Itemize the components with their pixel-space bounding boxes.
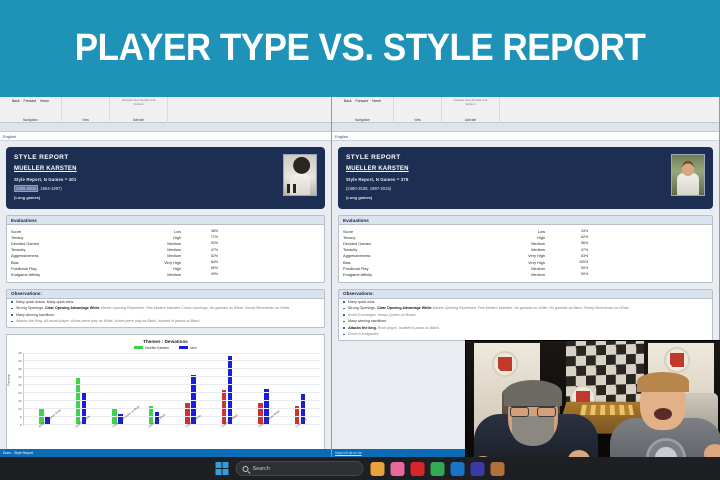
ribbon-group-activate: Activate Now Double Full Version Activat… xyxy=(110,97,168,123)
observation-item: Attacks the King. All-round player. Acti… xyxy=(16,319,322,324)
powerpoint-icon[interactable] xyxy=(471,462,485,476)
evaluation-bar-track xyxy=(591,229,708,233)
evaluation-bar-track xyxy=(221,273,320,277)
language-bar-right[interactable]: English xyxy=(332,132,719,141)
evaluation-percent: 62% xyxy=(551,235,591,239)
evaluation-name: Decided Games xyxy=(343,241,463,246)
evaluation-name: Aggressiveness xyxy=(343,253,463,258)
evaluation-percent: 52% xyxy=(187,241,221,245)
toolbar-separator-left xyxy=(0,123,331,132)
evaluation-percent: 49% xyxy=(187,272,221,276)
evaluation-bar-track xyxy=(221,248,320,252)
y-tick-label: 20 xyxy=(18,391,21,395)
style-report-card-right: STYLE REPORT MUELLER KARSTEN Style Repor… xyxy=(338,147,713,209)
speaker-left-glasses xyxy=(510,406,556,414)
forward-button-right[interactable]: Forward xyxy=(356,98,368,104)
user-app-icon[interactable] xyxy=(491,462,505,476)
evaluation-percent: 50% xyxy=(551,266,591,270)
evaluation-percent: 84% xyxy=(187,260,221,264)
evaluation-word: Medium xyxy=(463,266,551,271)
observation-item: Good in endgames. xyxy=(348,332,710,337)
back-button[interactable]: Back xyxy=(12,98,20,104)
title-banner: PLAYER TYPE VS. STYLE REPORT xyxy=(0,0,720,97)
activate-now-text-right[interactable]: Activate Now Double Full Version xyxy=(449,98,493,106)
evaluation-bar-track xyxy=(591,242,708,246)
ribbon-group-view-right: View xyxy=(394,97,442,123)
observations-list-left: Many quick draws. Many quick wins.Strong… xyxy=(7,299,324,327)
ribbon-group-view: View xyxy=(62,97,110,123)
evaluation-name: Endgame Affinity xyxy=(343,272,463,277)
evaluation-word: Medium xyxy=(113,241,187,246)
evaluation-bar-track xyxy=(591,248,708,252)
evaluations-header: Evaluations xyxy=(7,216,324,225)
report-meta: Style Report, N Games = 401 xyxy=(14,177,317,182)
bar-group xyxy=(149,353,160,424)
evaluation-name: Tenacy xyxy=(343,235,463,240)
observations-panel-left: Observations: Many quick draws. Many qui… xyxy=(6,289,325,328)
evaluation-percent: 65% xyxy=(187,266,221,270)
evaluation-name: Aggressiveness xyxy=(11,253,113,258)
observations-header-right: Observations: xyxy=(339,290,712,299)
ribbon-label-activate: Activate xyxy=(133,117,144,123)
taskbar-app-icons xyxy=(371,462,505,476)
y-tick-label: 10 xyxy=(18,407,21,411)
y-tick-label: 40 xyxy=(18,359,21,363)
gridline xyxy=(24,353,320,354)
evaluations-panel-left: Evaluations ScoreLow38%TenacyHigh71%Deci… xyxy=(6,215,325,283)
report-meta-right: Style Report, N Games = 378 xyxy=(346,177,705,182)
chart-bar xyxy=(258,403,263,424)
windows-taskbar: Search xyxy=(0,457,720,480)
player-name-right: MUELLER KARSTEN xyxy=(346,166,705,172)
ribbon-label-navigation-right: Navigation xyxy=(355,117,370,123)
evaluation-word: Low xyxy=(463,229,551,234)
observation-item: Many winning sacrifices. xyxy=(16,313,322,318)
bar-group xyxy=(258,353,269,424)
evaluations-rows-right: ScoreLow34%TenacyHigh62%Decided GamesMed… xyxy=(339,225,712,282)
evaluation-row: Endgame AffinityMedium49% xyxy=(11,271,320,277)
desktop: Back Forward Home Navigation View Activa… xyxy=(0,97,720,457)
bar-group xyxy=(222,353,233,424)
evaluation-bar-track xyxy=(591,260,708,264)
ribbon-label-activate-right: Activate xyxy=(465,117,476,123)
evaluation-word: High xyxy=(113,235,187,240)
report-kicker: STYLE REPORT xyxy=(14,154,317,161)
language-bar-left[interactable]: English xyxy=(0,132,331,141)
player-name: MUELLER KARSTEN xyxy=(14,166,317,172)
evaluation-name: Bias xyxy=(343,260,463,265)
evaluation-name: Decided Games xyxy=(11,241,113,246)
window-status-bar-left: Done - Style Report xyxy=(0,449,331,457)
y-tick-label: 0 xyxy=(20,423,22,427)
evaluation-percent: 56% xyxy=(551,241,591,245)
evaluation-percent: 52% xyxy=(187,254,221,258)
y-tick-label: 30 xyxy=(18,375,21,379)
search-placeholder: Search xyxy=(253,466,270,472)
gridline xyxy=(24,400,320,401)
chart-y-ticks: 051015202530354045 xyxy=(11,353,23,425)
start-button-icon[interactable] xyxy=(216,462,229,475)
ribbon-group-navigation-right: Back Forward Home Navigation xyxy=(332,97,394,123)
gridline xyxy=(24,384,320,385)
activate-now-text[interactable]: Activate Now Double Full Version xyxy=(117,98,161,106)
observation-item: Many quick wins. xyxy=(348,300,710,305)
bar-group xyxy=(185,353,196,424)
report-note: (Long games) xyxy=(14,195,317,200)
evaluation-bar-track xyxy=(221,254,320,258)
evaluation-name: Tenacity xyxy=(11,247,113,252)
gridline xyxy=(24,376,320,377)
photos-icon[interactable] xyxy=(391,462,405,476)
player-portrait-photo-right xyxy=(671,154,705,196)
status-link-right[interactable]: https://dl.dir.en.lat xyxy=(335,451,362,455)
legend-swatch xyxy=(134,346,143,350)
ribbon-label-view-right: View xyxy=(414,117,421,123)
chart-legend: Mueller KarstenUniv xyxy=(11,346,320,350)
chart-bar xyxy=(185,403,190,424)
report-content-left: STYLE REPORT MUELLER KARSTEN Style Repor… xyxy=(0,141,331,457)
evaluation-percent: 34% xyxy=(551,229,591,233)
evaluation-word: Very High xyxy=(113,260,187,265)
evaluation-bar-track xyxy=(591,254,708,258)
bar-group xyxy=(76,353,87,424)
taskbar-center-group: Search xyxy=(216,457,505,480)
evaluation-word: Low xyxy=(113,229,187,234)
observation-item: Many quick draws. Many quick wins. xyxy=(16,300,322,305)
ribbon-group-activate-right: Activate Now Double Full Version Activat… xyxy=(442,97,500,123)
ribbon-label-view: View xyxy=(82,117,89,123)
y-tick-label: 15 xyxy=(18,399,21,403)
bar-group xyxy=(112,353,123,424)
view-button-right[interactable] xyxy=(417,98,418,104)
speaker-left-beard xyxy=(512,416,554,446)
evaluation-bar-track xyxy=(591,266,708,270)
chessbase-logo-right-icon xyxy=(664,347,690,373)
bar-group xyxy=(39,353,50,424)
status-text-left: Done - Style Report xyxy=(3,451,33,455)
evaluation-word: Medium xyxy=(113,272,187,277)
gridline xyxy=(24,424,320,425)
evaluation-percent: 100% xyxy=(551,260,591,264)
evaluations-rows-left: ScoreLow38%TenacyHigh71%Decided GamesMed… xyxy=(7,225,324,282)
evaluation-name: Tenacity xyxy=(343,247,463,252)
evaluation-percent: 71% xyxy=(187,235,221,239)
legend-item: Mueller Karsten xyxy=(134,346,169,350)
gridline xyxy=(24,392,320,393)
evaluation-percent: 47% xyxy=(551,248,591,252)
evaluation-percent: 47% xyxy=(187,248,221,252)
evaluation-word: Medium xyxy=(463,247,551,252)
report-kicker-right: STYLE REPORT xyxy=(346,154,705,161)
report-rating-range: 2365-2502, 1964-1997) xyxy=(14,186,317,191)
evaluation-bar-track xyxy=(221,260,320,264)
evaluation-name: Tenacy xyxy=(11,235,113,240)
rating-range-years: , 1964-1997) xyxy=(38,186,62,191)
ribbon-right: Back Forward Home Navigation View Activa… xyxy=(332,97,719,123)
evaluations-panel-right: Evaluations ScoreLow34%TenacyHigh62%Deci… xyxy=(338,215,713,283)
y-tick-label: 35 xyxy=(18,367,21,371)
ribbon-group-navigation: Back Forward Home Navigation xyxy=(0,97,62,123)
evaluation-name: Endgame Affinity xyxy=(11,272,113,277)
evaluation-word: Very High xyxy=(463,260,551,265)
ribbon-left: Back Forward Home Navigation View Activa… xyxy=(0,97,331,123)
legend-swatch xyxy=(179,346,188,350)
rating-range-selected[interactable]: 2365-2502 xyxy=(14,185,38,192)
legend-label: Mueller Karsten xyxy=(145,346,169,350)
chart-x-labels: Attack On Queen RookSacrifice WhiteCastl… xyxy=(11,425,320,447)
evaluation-bar-track xyxy=(221,235,320,239)
observation-item: Avoid Exchanges. Keeps Queen on Board. xyxy=(348,313,710,318)
edge-icon[interactable] xyxy=(451,462,465,476)
speaker-right-mouth xyxy=(654,408,672,420)
evaluations-header-right: Evaluations xyxy=(339,216,712,225)
themes-deviations-chart: Themes : Deviations Mueller KarstenUniv … xyxy=(6,334,325,450)
legend-item: Univ xyxy=(179,346,197,350)
y-tick-label: 25 xyxy=(18,383,21,387)
evaluation-word: Very High xyxy=(463,253,551,258)
app-window-left: Back Forward Home Navigation View Activa… xyxy=(0,97,332,457)
page-title: PLAYER TYPE VS. STYLE REPORT xyxy=(75,27,646,70)
gridline xyxy=(24,368,320,369)
observations-list-right: Many quick wins.Strong Openings. Clear O… xyxy=(339,299,712,340)
evaluation-row: Endgame AffinityMedium50% xyxy=(343,271,708,277)
observations-panel-right: Observations: Many quick wins.Strong Ope… xyxy=(338,289,713,341)
evaluation-word: Medium xyxy=(463,241,551,246)
evaluation-bar-track xyxy=(221,229,320,233)
y-tick-label: 5 xyxy=(20,415,22,419)
evaluation-bar-track xyxy=(221,266,320,270)
bar-group xyxy=(295,353,306,424)
evaluation-name: Positional Play xyxy=(343,266,463,271)
evaluation-word: Medium xyxy=(113,247,187,252)
home-button-right[interactable]: Home xyxy=(372,98,381,104)
report-note-right: (Long games) xyxy=(346,195,705,200)
chessbase-logo-left-icon xyxy=(492,351,518,377)
style-report-card-left: STYLE REPORT MUELLER KARSTEN Style Repor… xyxy=(6,147,325,209)
home-button[interactable]: Home xyxy=(40,98,49,104)
chart-title: Themes : Deviations xyxy=(11,339,320,344)
observation-item: Strong Openings. Clear Opening Advantage… xyxy=(16,306,322,311)
file-explorer-icon[interactable] xyxy=(371,462,385,476)
evaluation-bar-track xyxy=(221,242,320,246)
search-icon xyxy=(243,466,249,472)
evaluation-word: High xyxy=(463,235,551,240)
evaluation-percent: 50% xyxy=(551,272,591,276)
evaluation-percent: 38% xyxy=(187,229,221,233)
speaker-right-hair xyxy=(637,372,689,392)
toolbar-separator-right xyxy=(332,123,719,132)
evaluation-name: Positional Play xyxy=(11,266,113,271)
gridline xyxy=(24,408,320,409)
opera-icon[interactable] xyxy=(411,462,425,476)
evaluation-name: Bias xyxy=(11,260,113,265)
evaluation-word: Medium xyxy=(463,272,551,277)
gridline xyxy=(24,360,320,361)
back-button-right[interactable]: Back xyxy=(344,98,352,104)
observation-item: Strong Openings. Clear Opening Advantage… xyxy=(348,306,710,311)
evaluation-bar-track xyxy=(591,235,708,239)
evaluation-word: High xyxy=(113,266,187,271)
taskbar-search-input[interactable]: Search xyxy=(236,461,364,476)
evaluation-name: Score xyxy=(343,229,463,234)
chrome-icon[interactable] xyxy=(431,462,445,476)
observation-item: Attacks the king. Rook player. Isolated … xyxy=(348,326,710,331)
legend-label: Univ xyxy=(190,346,197,350)
speaker-left-hair xyxy=(504,380,562,406)
player-portrait-photo xyxy=(283,154,317,196)
observation-item: Many winning sacrifices. xyxy=(348,319,710,324)
chart-bar xyxy=(228,356,233,424)
forward-button[interactable]: Forward xyxy=(24,98,36,104)
evaluation-name: Score xyxy=(11,229,113,234)
report-rating-range-right: (2480-2538, 1997-2015) xyxy=(346,186,705,191)
ribbon-label-navigation: Navigation xyxy=(23,117,38,123)
y-tick-label: 45 xyxy=(18,351,21,355)
evaluation-word: Medium xyxy=(113,253,187,258)
evaluation-bar-track xyxy=(591,273,708,277)
evaluation-percent: 83% xyxy=(551,254,591,258)
observations-header: Observations: xyxy=(7,290,324,299)
view-button[interactable] xyxy=(85,98,86,104)
